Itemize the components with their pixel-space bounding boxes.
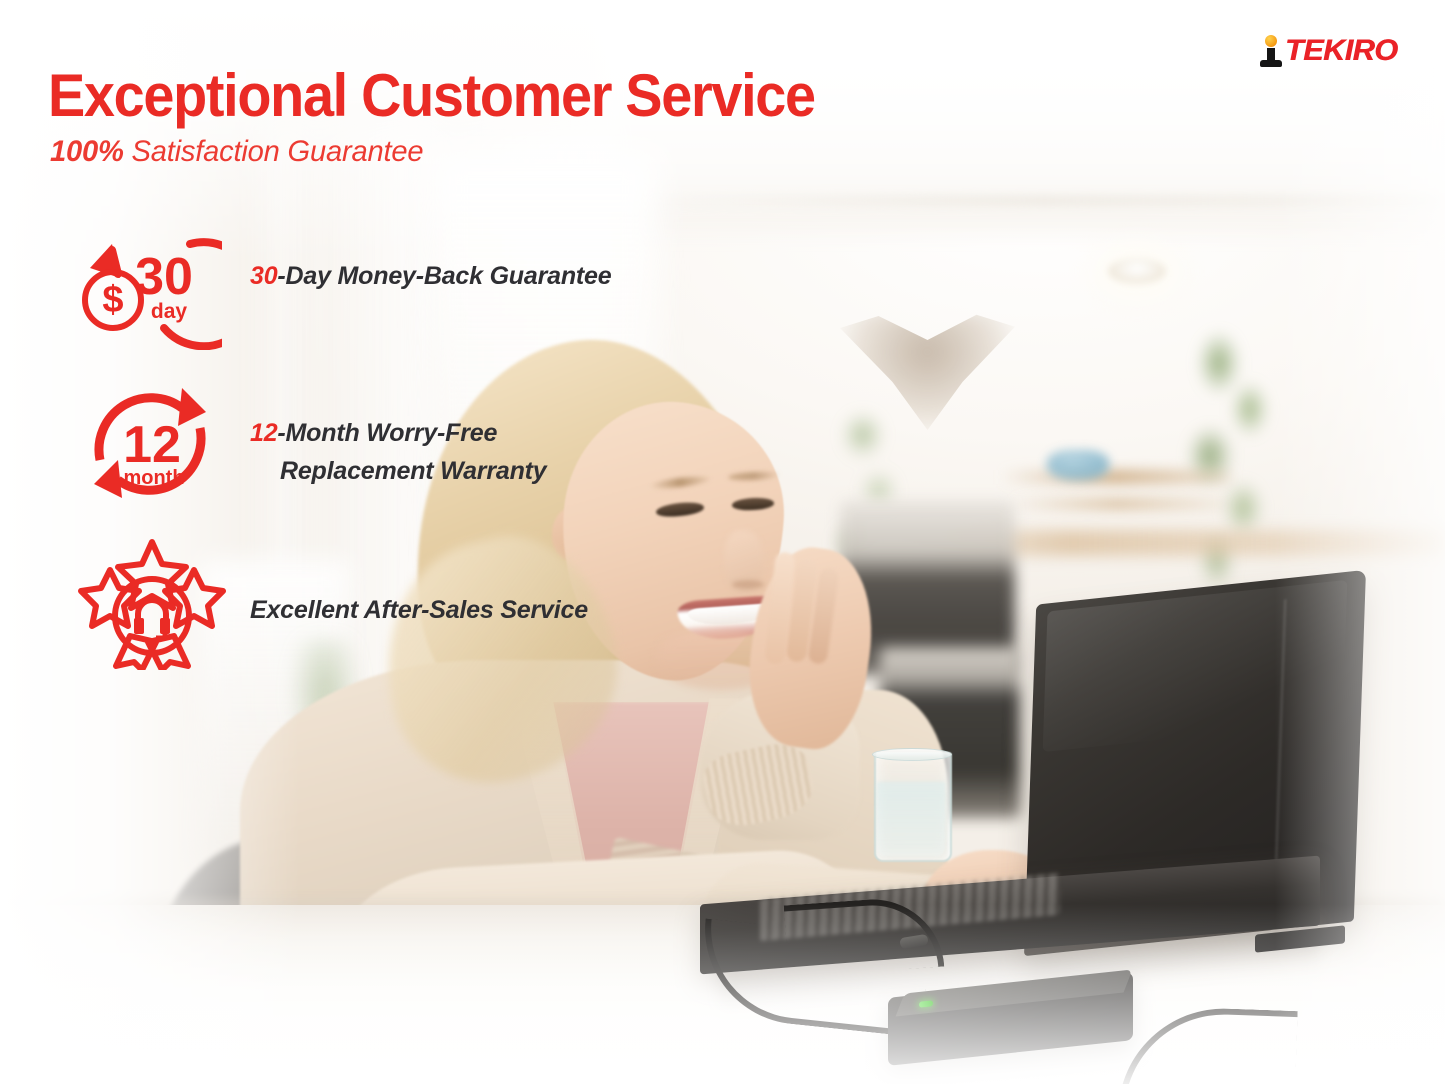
banner-root: TEKIRO Exceptional Customer Service 100%… bbox=[0, 0, 1445, 1084]
subtitle-rest: Satisfaction Guarantee bbox=[124, 135, 424, 168]
svg-text:12: 12 bbox=[123, 416, 181, 474]
feature-label-30-day: 30-Day Money-Back Guarantee bbox=[250, 258, 611, 296]
page-title: Exceptional Customer Service bbox=[48, 66, 815, 126]
feature-label-after-sales: Excellent After-Sales Service bbox=[250, 592, 588, 630]
logo-base bbox=[1260, 60, 1282, 67]
flame-dot-icon bbox=[1265, 35, 1277, 47]
replacement-12-month-svg: 12 month bbox=[78, 382, 223, 507]
tekiro-logo: TEKIRO bbox=[1258, 34, 1396, 68]
feature-item-30-day: $ 30 day bbox=[72, 222, 222, 355]
feature-text-12-month: -Month Worry-Free bbox=[277, 419, 497, 447]
feature-number-12: 12 bbox=[250, 419, 277, 447]
feature-text-30-day: -Day Money-Back Guarantee bbox=[277, 262, 611, 290]
feature-line-2: Replacement Warranty bbox=[250, 453, 546, 491]
svg-text:30: 30 bbox=[135, 248, 193, 306]
money-back-30-day-icon: $ 30 day bbox=[72, 222, 222, 355]
page-subtitle: 100% Satisfaction Guarantee bbox=[50, 135, 423, 169]
content-overlay: TEKIRO Exceptional Customer Service 100%… bbox=[0, 0, 1445, 1084]
after-sales-badge-svg bbox=[78, 538, 226, 670]
feature-item-after-sales bbox=[78, 538, 228, 675]
replacement-12-month-icon: 12 month bbox=[78, 382, 228, 512]
logo-wordmark: TEKIRO bbox=[1285, 34, 1398, 68]
after-sales-service-badge-icon bbox=[78, 538, 228, 675]
subtitle-percent: 100% bbox=[50, 135, 124, 168]
svg-text:$: $ bbox=[102, 279, 123, 321]
torch-pedestal-icon bbox=[1258, 35, 1284, 67]
svg-text:month: month bbox=[123, 467, 184, 489]
feature-number-30: 30 bbox=[250, 262, 277, 290]
money-back-30-day-svg: $ 30 day bbox=[72, 222, 222, 350]
feature-label-12-month: 12-Month Worry-Free Replacement Warranty bbox=[250, 415, 546, 490]
feature-item-12-month: 12 month bbox=[78, 382, 228, 512]
svg-text:day: day bbox=[151, 300, 188, 323]
feature-line-1: 12-Month Worry-Free bbox=[250, 415, 546, 453]
